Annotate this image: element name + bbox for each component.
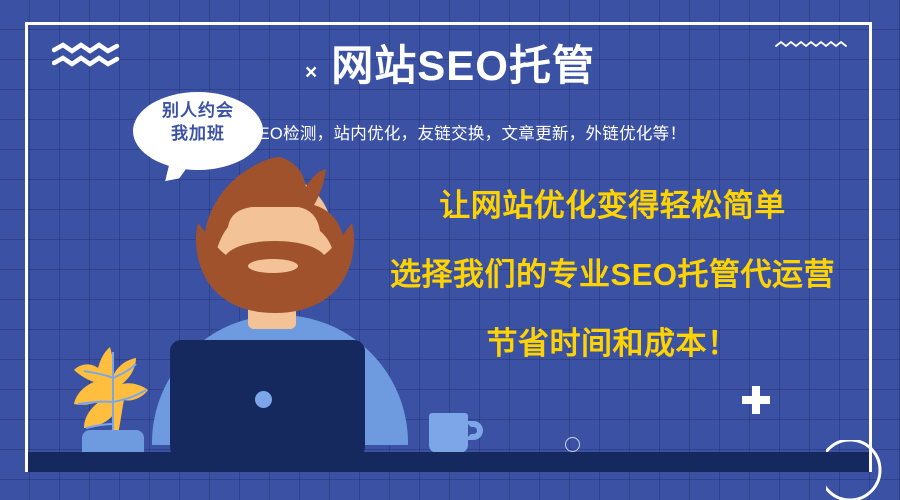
cross-mark-icon: × [305,62,317,83]
seo-banner: × 网站SEO托管 含：SEO检测，站内优化，友链交换，文章更新，外链优化等！ … [0,0,900,500]
person-hair-icon [186,157,366,307]
page-title: 网站SEO托管 [331,44,595,88]
laptop-computer [170,340,365,458]
speech-bubble-line-1: 别人约会 [133,100,263,123]
desk-surface [28,452,869,472]
page-title-row: × 网站SEO托管 [0,44,900,88]
speech-bubble-text: 别人约会 我加班 [133,100,263,146]
speech-bubble-line-2: 我加班 [133,123,263,146]
coffee-mug-body [429,413,468,453]
laptop-logo-icon [255,391,272,408]
